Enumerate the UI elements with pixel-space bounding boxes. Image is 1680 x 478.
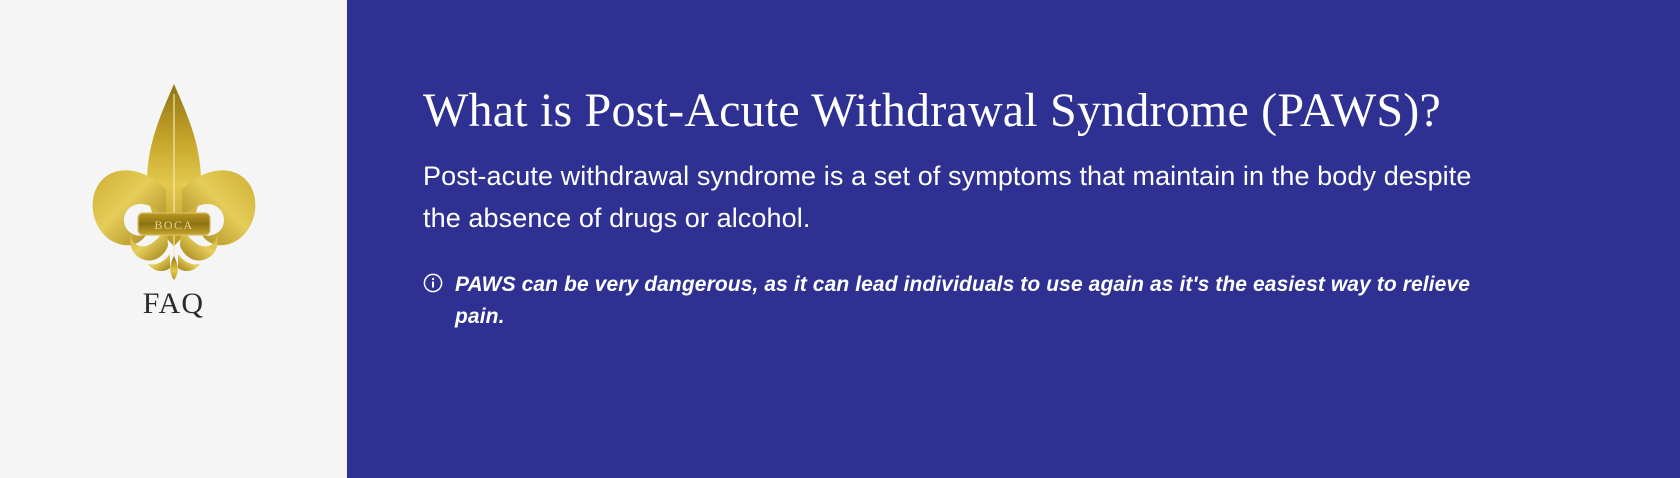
logo-band-text: BOCA [154, 218, 193, 232]
brand-label: FAQ [143, 289, 204, 319]
info-note: PAWS can be very dangerous, as it can le… [423, 269, 1508, 333]
fleur-de-lis-icon: BOCA [69, 78, 279, 283]
info-circle-icon [423, 273, 443, 293]
brand-panel: BOCA FAQ [0, 0, 347, 478]
info-note-text: PAWS can be very dangerous, as it can le… [455, 269, 1508, 333]
page-title: What is Post-Acute Withdrawal Syndrome (… [423, 84, 1620, 138]
content-panel: What is Post-Acute Withdrawal Syndrome (… [347, 0, 1680, 478]
faq-card: BOCA FAQ What is Post-Acute Withdrawal S… [0, 0, 1680, 478]
body-text: Post-acute withdrawal syndrome is a set … [423, 156, 1483, 240]
